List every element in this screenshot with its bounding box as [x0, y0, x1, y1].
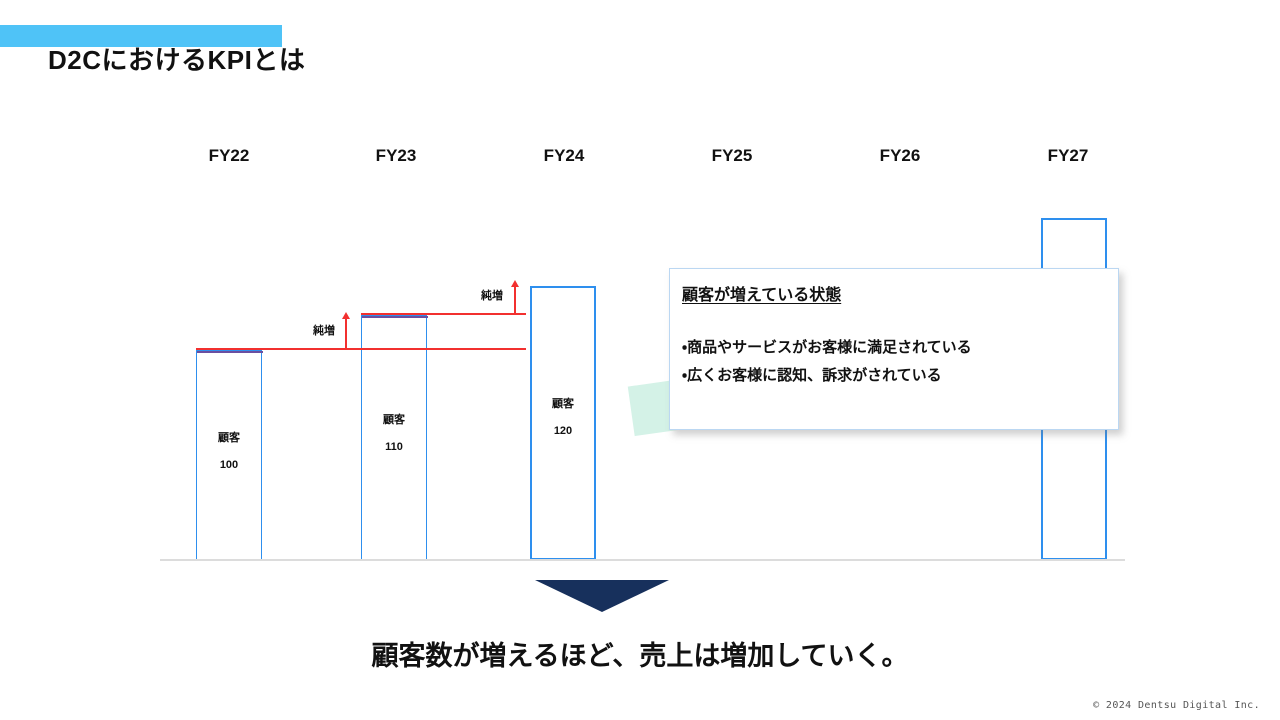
- bar-fy22-label: 顧客: [197, 429, 261, 445]
- footer-copyright: © 2024 Dentsu Digital Inc.: [1093, 700, 1260, 711]
- bar-fy23[interactable]: 顧客 110: [361, 315, 427, 560]
- axis-label-fy23: FY23: [376, 146, 417, 166]
- chart-baseline: [160, 559, 1125, 561]
- bar-fy23-top-tint: [362, 316, 428, 318]
- conclusion-text: 顧客数が増えるほど、売上は増加していく。: [371, 634, 908, 673]
- callout-bullet-2: ・広くお客様に認知、訴求がされている: [682, 362, 972, 390]
- bar-fy22-value: 100: [197, 459, 261, 471]
- delta-arrow-fy22-fy23: [345, 318, 347, 348]
- bar-fy22[interactable]: 顧客 100: [196, 350, 262, 560]
- axis-label-fy25: FY25: [712, 146, 753, 166]
- delta-line-fy22-fy23: [196, 348, 526, 350]
- callout-box[interactable]: 顧客が増えている状態 ・商品やサービスがお客様に満足されている ・広くお客様に認…: [669, 268, 1119, 430]
- down-arrow-icon: [535, 580, 669, 612]
- slide-root: D2CにおけるKPIとは FY22 FY23 FY24 FY25 FY26 FY…: [0, 0, 1280, 720]
- bar-fy22-top-tint: [197, 351, 263, 353]
- bar-fy24-label: 顧客: [532, 395, 594, 411]
- bar-fy24[interactable]: 顧客 120: [530, 286, 596, 560]
- axis-label-fy22: FY22: [209, 146, 250, 166]
- delta-arrow-fy23-fy24: [514, 286, 516, 313]
- delta-label-fy22-fy23: 純増: [313, 322, 335, 338]
- callout-bullet-1: ・商品やサービスがお客様に満足されている: [682, 334, 972, 362]
- axis-label-fy27: FY27: [1048, 146, 1089, 166]
- callout-title: 顧客が増えている状態: [682, 281, 841, 305]
- bar-fy23-label: 顧客: [362, 411, 426, 427]
- delta-line-fy23-fy24: [361, 313, 526, 315]
- axis-label-fy26: FY26: [880, 146, 921, 166]
- bar-fy23-value: 110: [362, 441, 426, 453]
- callout-bullet-list: ・商品やサービスがお客様に満足されている ・広くお客様に認知、訴求がされている: [682, 334, 972, 390]
- delta-label-fy23-fy24: 純増: [481, 287, 503, 303]
- axis-label-fy24: FY24: [544, 146, 585, 166]
- bar-fy24-value: 120: [532, 425, 594, 437]
